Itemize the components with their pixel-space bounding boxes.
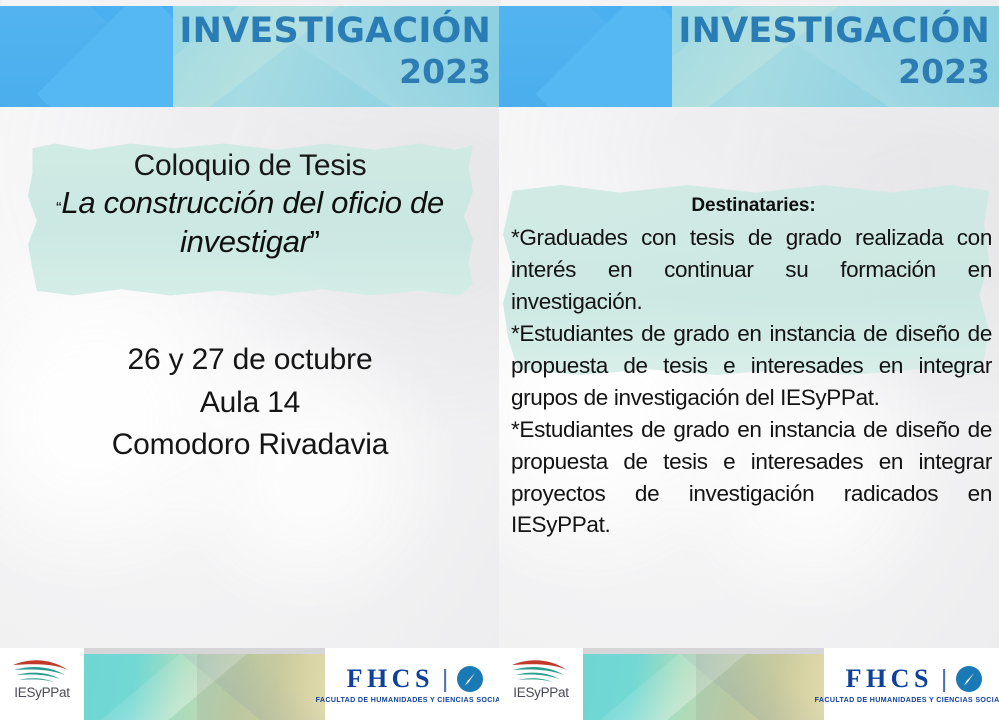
colloquium-title-group: Coloquio de Tesis “La construcción del o…	[0, 149, 500, 262]
iesyppat-label: IESyPPat	[14, 685, 69, 700]
banner-blue-block	[499, 6, 672, 107]
left-column: Coloquio de Tesis “La construcción del o…	[0, 107, 500, 647]
iesyppat-logo: IESyPPat	[499, 648, 583, 720]
footer-bar: IESyPPat FHCS | FACULTAD DE HUMANIDADES …	[0, 648, 500, 720]
close-quote: ”	[310, 224, 320, 259]
right-column: Destinataries: *Graduades con tesis de g…	[499, 107, 998, 647]
iesyppat-swoosh-icon	[509, 656, 573, 684]
banner-blue-block	[0, 6, 173, 107]
event-date: 26 y 27 de octubre	[0, 339, 500, 382]
thesis-title-line: “La construcción del oficio de investiga…	[0, 183, 500, 262]
banner-text-group: INVESTIGACIÓN 2023	[678, 14, 990, 88]
fhcs-logo: FHCS | FACULTAD DE HUMANIDADES Y CIENCIA…	[325, 648, 500, 720]
header-banner: INVESTIGACIÓN 2023	[499, 6, 999, 107]
destinataries-paragraph: *Estudiantes de grado en instancia de di…	[511, 318, 992, 414]
colloquium-kicker: Coloquio de Tesis	[0, 149, 500, 183]
destinataries-paragraph: *Estudiantes de grado en instancia de di…	[511, 414, 992, 542]
fhcs-tagline: FACULTAD DE HUMANIDADES Y CIENCIAS SOCIA…	[815, 696, 999, 704]
fhcs-compass-icon	[456, 665, 484, 693]
destinataries-body: *Graduades con tesis de grado realizada …	[511, 222, 996, 541]
destinataries-heading: Destinataries:	[511, 195, 996, 217]
fhcs-acronym: FHCS	[846, 664, 933, 694]
iesyppat-label: IESyPPat	[513, 685, 568, 700]
flyer-copy-1: INVESTIGACIÓN 2023 Coloquio de Tesis “La…	[0, 0, 500, 720]
event-room: Aula 14	[0, 382, 500, 425]
fhcs-logo: FHCS | FACULTAD DE HUMANIDADES Y CIENCIA…	[824, 648, 999, 720]
header-banner: INVESTIGACIÓN 2023	[0, 6, 500, 107]
fhcs-compass-icon	[955, 665, 983, 693]
banner-year: 2023	[678, 55, 990, 88]
fhcs-divider: |	[442, 665, 449, 694]
flyer-copy-2: INVESTIGACIÓN 2023 Destinataries: *Gradu…	[499, 0, 999, 720]
event-city: Comodoro Rivadavia	[0, 424, 500, 467]
fhcs-tagline: FACULTAD DE HUMANIDADES Y CIENCIAS SOCIA…	[316, 696, 500, 704]
fhcs-acronym: FHCS	[347, 664, 434, 694]
fhcs-logo-row: FHCS |	[846, 664, 984, 694]
destinataries-paragraph: *Graduades con tesis de grado realizada …	[511, 222, 992, 318]
thesis-title: La construcción del oficio de investigar	[61, 185, 443, 260]
banner-title: INVESTIGACIÓN	[678, 14, 990, 49]
banner-year: 2023	[179, 55, 491, 88]
footer-bar: IESyPPat FHCS | FACULTAD DE HUMANIDADES …	[499, 648, 999, 720]
iesyppat-swoosh-icon	[10, 656, 74, 684]
banner-title: INVESTIGACIÓN	[179, 14, 491, 49]
flyer-screenshot: INVESTIGACIÓN 2023 Coloquio de Tesis “La…	[0, 0, 999, 720]
event-details: 26 y 27 de octubre Aula 14 Comodoro Riva…	[0, 339, 500, 467]
fhcs-divider: |	[941, 665, 948, 694]
footer-gradient-strip	[583, 654, 824, 720]
banner-text-group: INVESTIGACIÓN 2023	[179, 14, 491, 88]
fhcs-logo-row: FHCS |	[347, 664, 485, 694]
footer-gradient-strip	[84, 654, 325, 720]
iesyppat-logo: IESyPPat	[0, 648, 84, 720]
